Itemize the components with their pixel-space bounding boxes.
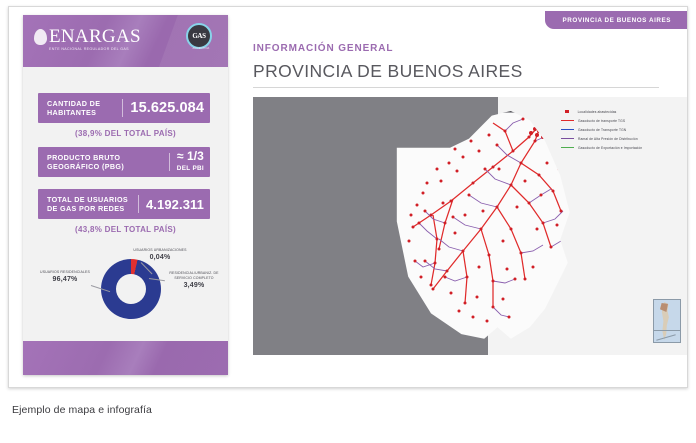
page-title: PROVINCIA DE BUENOS AIRES (253, 61, 523, 82)
slice-name: RESIDENCIAL/URBANIZ. DE SERVICIO COMPLET… (165, 271, 223, 281)
title-rule (253, 87, 659, 88)
donut-ring (101, 259, 161, 319)
slice-name: USUARIOS RESIDENCIALES (39, 270, 91, 275)
figure-caption: Ejemplo de mapa e infografía (12, 404, 152, 416)
legend-item: Gasoducto de Transporte TGN (561, 125, 681, 134)
content-panel: PROVINCIA DE BUENOS AIRES INFORMACIÓN GE… (237, 7, 687, 387)
infographic-panel: ENARGAS ENTE NACIONAL REGULADOR DEL GAS … (23, 15, 228, 375)
seal-text: GAS (192, 32, 205, 40)
stat-value: ≈ 1/3 DEL PBI (170, 151, 210, 174)
enargas-logo: ENARGAS ENTE NACIONAL REGULADOR DEL GAS (34, 27, 141, 52)
legend-item: Localidades abastecidas (561, 107, 681, 116)
stat-card-habitantes: CANTIDAD DE HABITANTES 15.625.084 (38, 93, 210, 123)
legend-label: Gasoducto de Exportación e Importación (578, 146, 642, 150)
screenshot-root: ENARGAS ENTE NACIONAL REGULADOR DEL GAS … (0, 0, 696, 443)
line-swatch-icon (561, 147, 574, 149)
legend-label: Gasoducto de transporte TGS (578, 119, 625, 123)
province-map: Localidades abastecidas Gasoducto de tra… (253, 97, 688, 355)
line-swatch-icon (561, 120, 574, 122)
donut-label-urbanizaciones: USUARIOS URBANIZACIONES 0,04% (131, 248, 189, 260)
locator-inset-map (653, 299, 681, 343)
brand-header: ENARGAS ENTE NACIONAL REGULADOR DEL GAS … (23, 15, 228, 67)
tgs-pipelines (413, 119, 563, 307)
slice-value: 3,49% (165, 283, 223, 288)
slide-frame: ENARGAS ENTE NACIONAL REGULADOR DEL GAS … (8, 6, 688, 388)
users-donut-chart: USUARIOS RESIDENCIALES 96,47% USUARIOS U… (23, 245, 228, 341)
stat-value: 15.625.084 (123, 100, 210, 116)
legend-label: Gasoducto de Transporte TGN (578, 128, 626, 132)
map-legend: Localidades abastecidas Gasoducto de tra… (561, 107, 681, 152)
stat-card-pbg: PRODUCTO BRUTO GEOGRÁFICO (PBG) ≈ 1/3 DE… (38, 147, 210, 177)
shield-icon (34, 29, 47, 45)
stat-label: CANTIDAD DE HABITANTES (38, 99, 122, 117)
legend-label: Ramal de Alta Presión de Distribución (578, 137, 638, 141)
legend-item: Gasoducto de transporte TGS (561, 116, 681, 125)
legend-label: Localidades abastecidas (578, 110, 617, 114)
inset-divider (654, 330, 680, 331)
legend-item: Ramal de Alta Presión de Distribución (561, 134, 681, 143)
stat-note-usuarios: (43,8% DEL TOTAL PAÍS) (23, 225, 228, 234)
slice-value: 0,04% (131, 255, 189, 260)
donut-label-residenciales: USUARIOS RESIDENCIALES 96,47% (39, 270, 91, 282)
brand-name: ENARGAS (49, 27, 141, 46)
province-tab: PROVINCIA DE BUENOS AIRES (545, 11, 687, 29)
seal-caption: ARGENTINA (190, 47, 212, 50)
line-swatch-icon (561, 129, 574, 131)
stat-label: TOTAL DE USUARIOS DE GAS POR REDES (38, 195, 138, 213)
stat-label: PRODUCTO BRUTO GEOGRÁFICO (PBG) (38, 153, 169, 171)
stat-value-main: ≈ 1/3 (177, 149, 204, 163)
section-kicker: INFORMACIÓN GENERAL (253, 43, 393, 54)
stat-value: 4.192.311 (139, 197, 210, 212)
locality-dot-icon (565, 110, 568, 113)
gas-seal-icon: GAS (186, 23, 212, 49)
brand-subtitle: ENTE NACIONAL REGULADOR DEL GAS (49, 48, 141, 52)
stats-body: CANTIDAD DE HABITANTES 15.625.084 (38,9%… (23, 67, 228, 341)
legend-item: Gasoducto de Exportación e Importación (561, 143, 681, 152)
stat-card-usuarios: TOTAL DE USUARIOS DE GAS POR REDES 4.192… (38, 189, 210, 219)
inset-divider (656, 334, 676, 340)
donut-label-servicio-completo: RESIDENCIAL/URBANIZ. DE SERVICIO COMPLET… (165, 271, 223, 289)
panel-footer-bar (23, 341, 228, 375)
slice-name: USUARIOS URBANIZACIONES (131, 248, 189, 253)
line-swatch-icon (561, 138, 574, 140)
slice-value: 96,47% (39, 277, 91, 282)
stat-value-sub: DEL PBI (177, 163, 204, 174)
stat-note-habitantes: (38,9% DEL TOTAL PAÍS) (23, 129, 228, 138)
